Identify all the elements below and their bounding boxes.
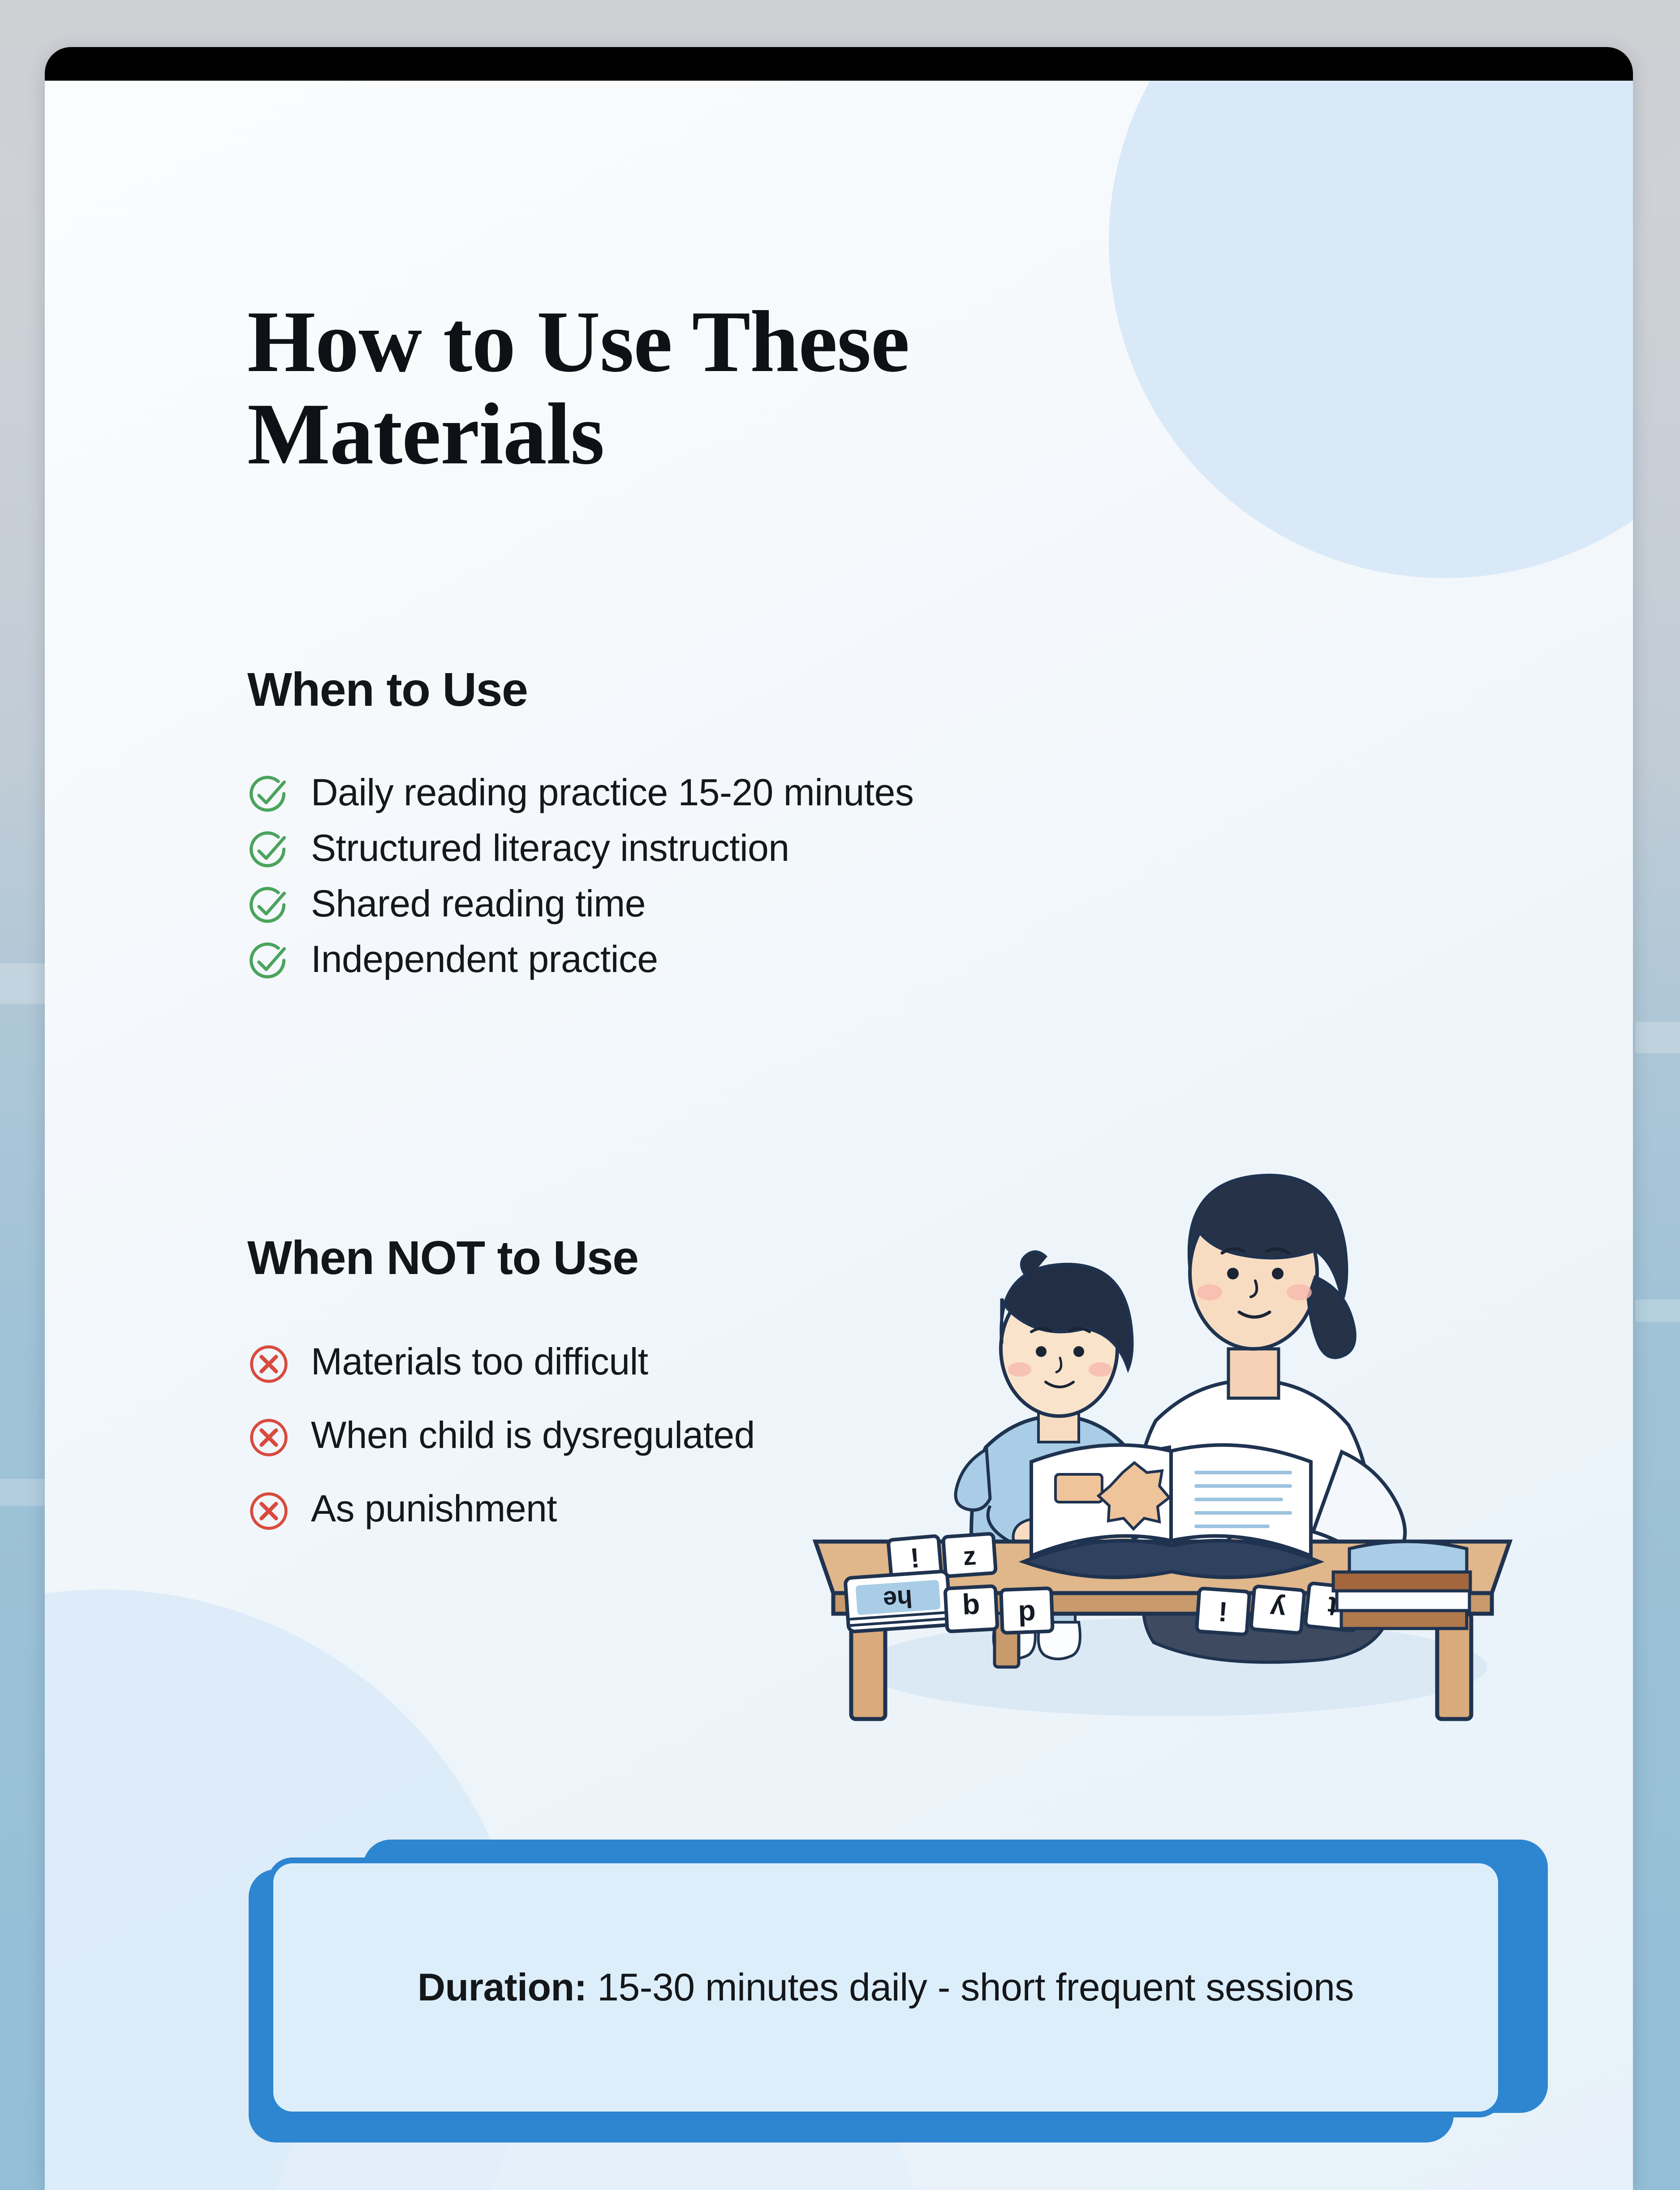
x-circle-icon: [247, 1343, 290, 1386]
check-circle-icon: [247, 940, 290, 983]
check-circle-icon: [247, 885, 290, 928]
list-item: Materials too difficult: [247, 1340, 755, 1386]
list-item: When child is dysregulated: [247, 1413, 755, 1459]
list-item-label: Structured literacy instruction: [311, 826, 789, 870]
check-circle-icon: [247, 773, 290, 816]
list-item-label: When child is dysregulated: [311, 1413, 755, 1457]
card-top-bar: [45, 47, 1633, 81]
page-title-line-2: Materials: [247, 388, 1367, 480]
card-content: How to Use These Materials When to Use D…: [45, 81, 1633, 2190]
poster-card: How to Use These Materials When to Use D…: [45, 47, 1633, 2190]
svg-text:he: he: [882, 1585, 913, 1615]
section-heading-when-to-use: When to Use: [247, 666, 527, 713]
list-item-label: Independent practice: [311, 937, 658, 981]
backdrop-streak-1: [0, 963, 45, 1004]
backdrop-streak-4: [0, 1479, 45, 1506]
list-item: Independent practice: [247, 937, 913, 983]
x-circle-icon: [247, 1490, 290, 1533]
list-item-label: As punishment: [311, 1487, 557, 1530]
svg-text:y: y: [1268, 1593, 1287, 1625]
list-item: Shared reading time: [247, 882, 913, 928]
list-item: Daily reading practice 15-20 minutes: [247, 771, 913, 816]
list-item-label: Materials too difficult: [311, 1340, 648, 1383]
backdrop-streak-2: [1635, 1022, 1680, 1053]
list-item: As punishment: [247, 1487, 755, 1533]
page-title: How to Use These Materials: [247, 296, 1367, 480]
adult-and-child-reading-at-table-illustration: ! z he: [802, 1080, 1523, 1761]
x-circle-icon: [247, 1416, 290, 1459]
list-when-to-use: Daily reading practice 15-20 minutes Str…: [247, 771, 913, 993]
duration-callout-text: Duration: 15-30 minutes daily - short fr…: [377, 1963, 1394, 2012]
page-title-line-1: How to Use These: [247, 296, 1367, 388]
svg-text:z: z: [962, 1541, 977, 1571]
backdrop-streak-3: [1635, 1300, 1680, 1322]
section-heading-when-not-to-use: When NOT to Use: [247, 1234, 638, 1282]
list-item-label: Daily reading practice 15-20 minutes: [311, 771, 913, 814]
svg-text:q: q: [962, 1592, 981, 1625]
duration-callout: Duration: 15-30 minutes daily - short fr…: [249, 1840, 1548, 2126]
list-when-not-to-use: Materials too difficult When child is dy…: [247, 1340, 755, 1560]
duration-value: 15-30 minutes daily - short frequent ses…: [597, 1966, 1354, 2009]
svg-text:p: p: [1017, 1594, 1036, 1627]
card-body: How to Use These Materials When to Use D…: [45, 81, 1633, 2190]
list-item: Structured literacy instruction: [247, 826, 913, 872]
list-item-label: Shared reading time: [311, 882, 646, 925]
duration-label: Duration:: [418, 1966, 587, 2009]
check-circle-icon: [247, 829, 290, 872]
duration-callout-card: Duration: 15-30 minutes daily - short fr…: [267, 1857, 1504, 2117]
